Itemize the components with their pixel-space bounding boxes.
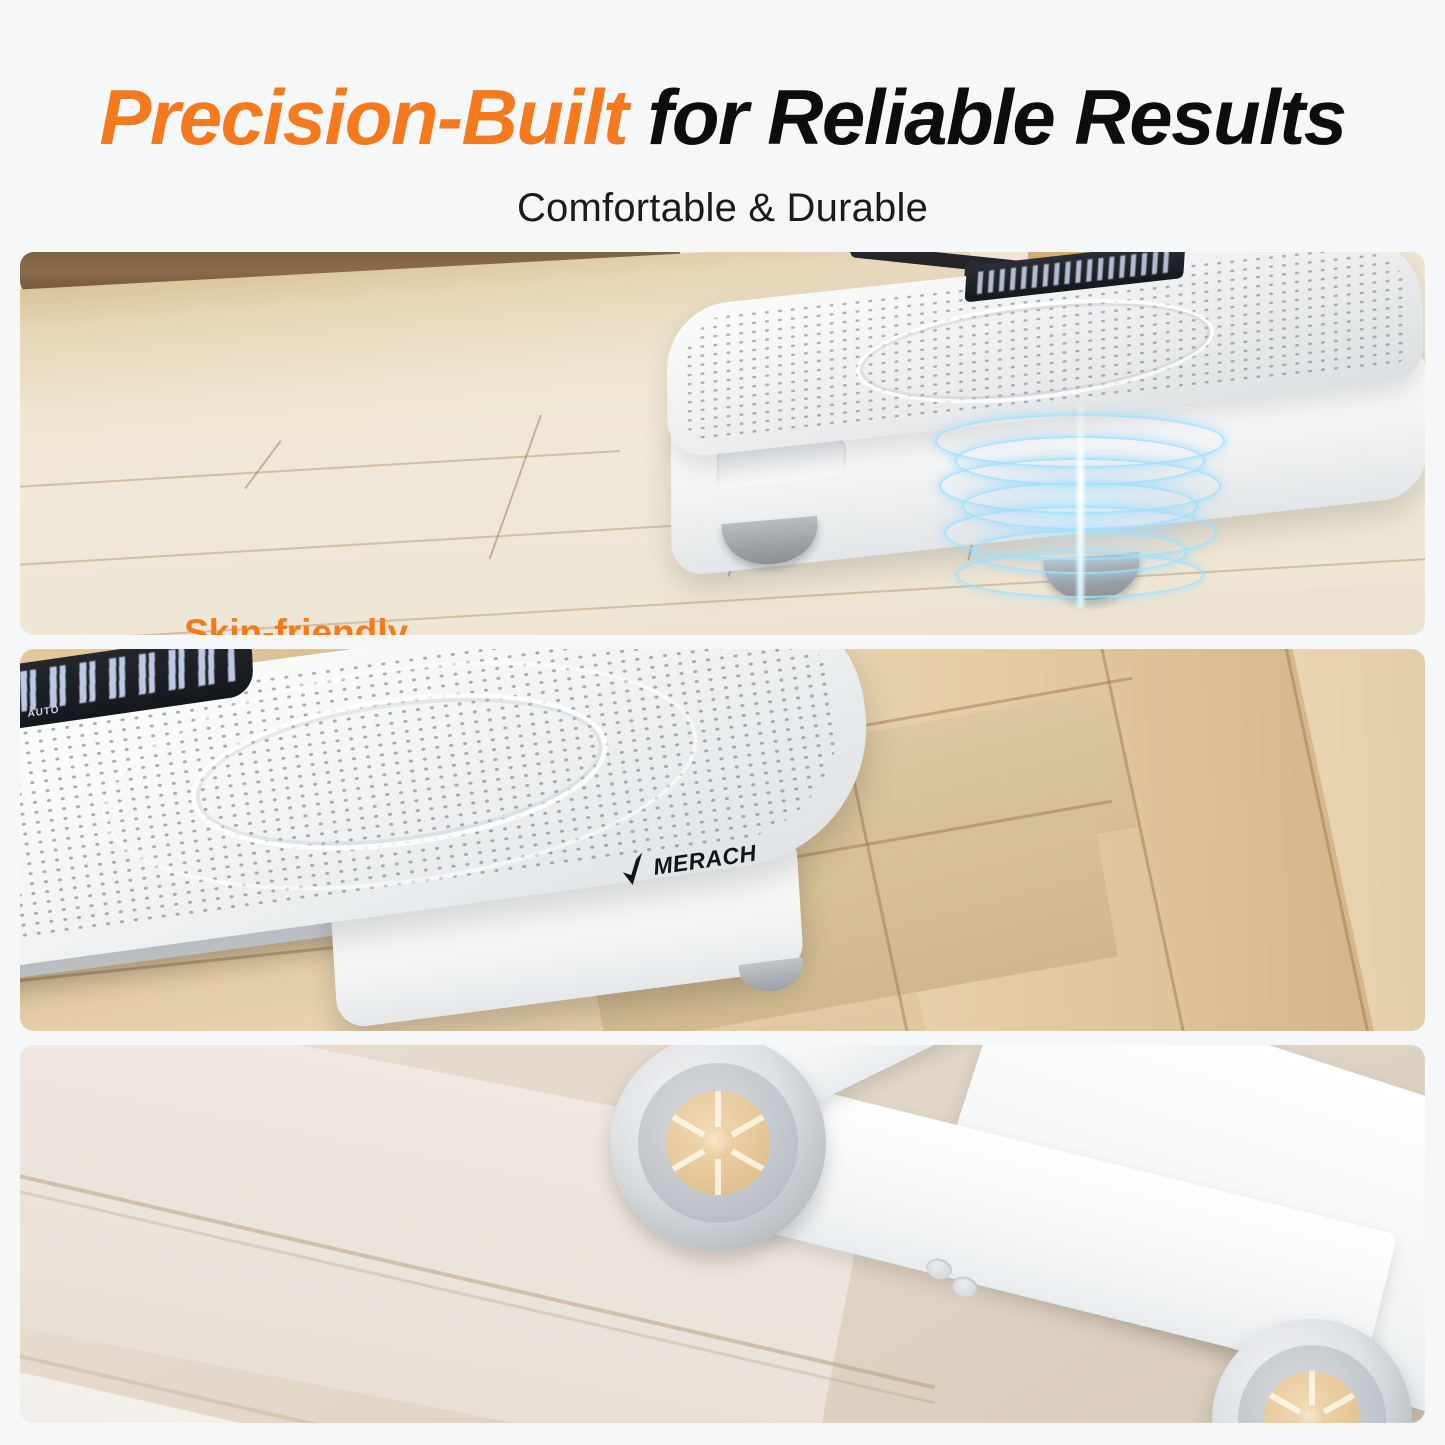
vibration-glow-effect [915, 408, 1245, 588]
page-subtitle: Comfortable & Durable [0, 186, 1445, 231]
suction-cup-hub [702, 1127, 733, 1158]
device-underside-frame [580, 1045, 1425, 1423]
header: Precision-Built for Reliable Results Com… [0, 0, 1445, 231]
feature-panel-anti-slip: Anti-slip suction cup [20, 1045, 1425, 1423]
feature-panel-shock-absorbing: TIME AUTO MERACH Shock-absorbing constru… [20, 649, 1425, 1031]
feature-panel-skin-friendly: Skin-friendly silicone pedal [20, 252, 1425, 635]
caption-accent-text: Skin-friendly [184, 612, 429, 635]
suction-cup-inner-pad [666, 1091, 770, 1195]
vibration-plate-device [665, 258, 1425, 618]
feature-panel-list: Skin-friendly silicone pedal [20, 252, 1425, 1437]
caption-skin-friendly: Skin-friendly silicone pedal [184, 612, 429, 635]
suction-cup-foot [738, 957, 805, 995]
vibration-beam [1077, 392, 1084, 608]
suction-cup [610, 1045, 826, 1251]
photo-device-underside [20, 1045, 1425, 1423]
page-title: Precision-Built for Reliable Results [0, 78, 1445, 156]
photo-wood-floor-device: TIME AUTO MERACH [20, 649, 1425, 1031]
suction-cup-hub [1298, 1405, 1327, 1423]
headline-rest-text: for Reliable Results [647, 73, 1345, 161]
merach-checkmark-icon [618, 851, 648, 888]
headline-accent-text: Precision-Built [99, 73, 627, 161]
photo-living-room-floor [20, 252, 1425, 635]
vibration-plate-device: TIME AUTO [20, 649, 920, 1031]
suction-cup [1212, 1319, 1412, 1423]
